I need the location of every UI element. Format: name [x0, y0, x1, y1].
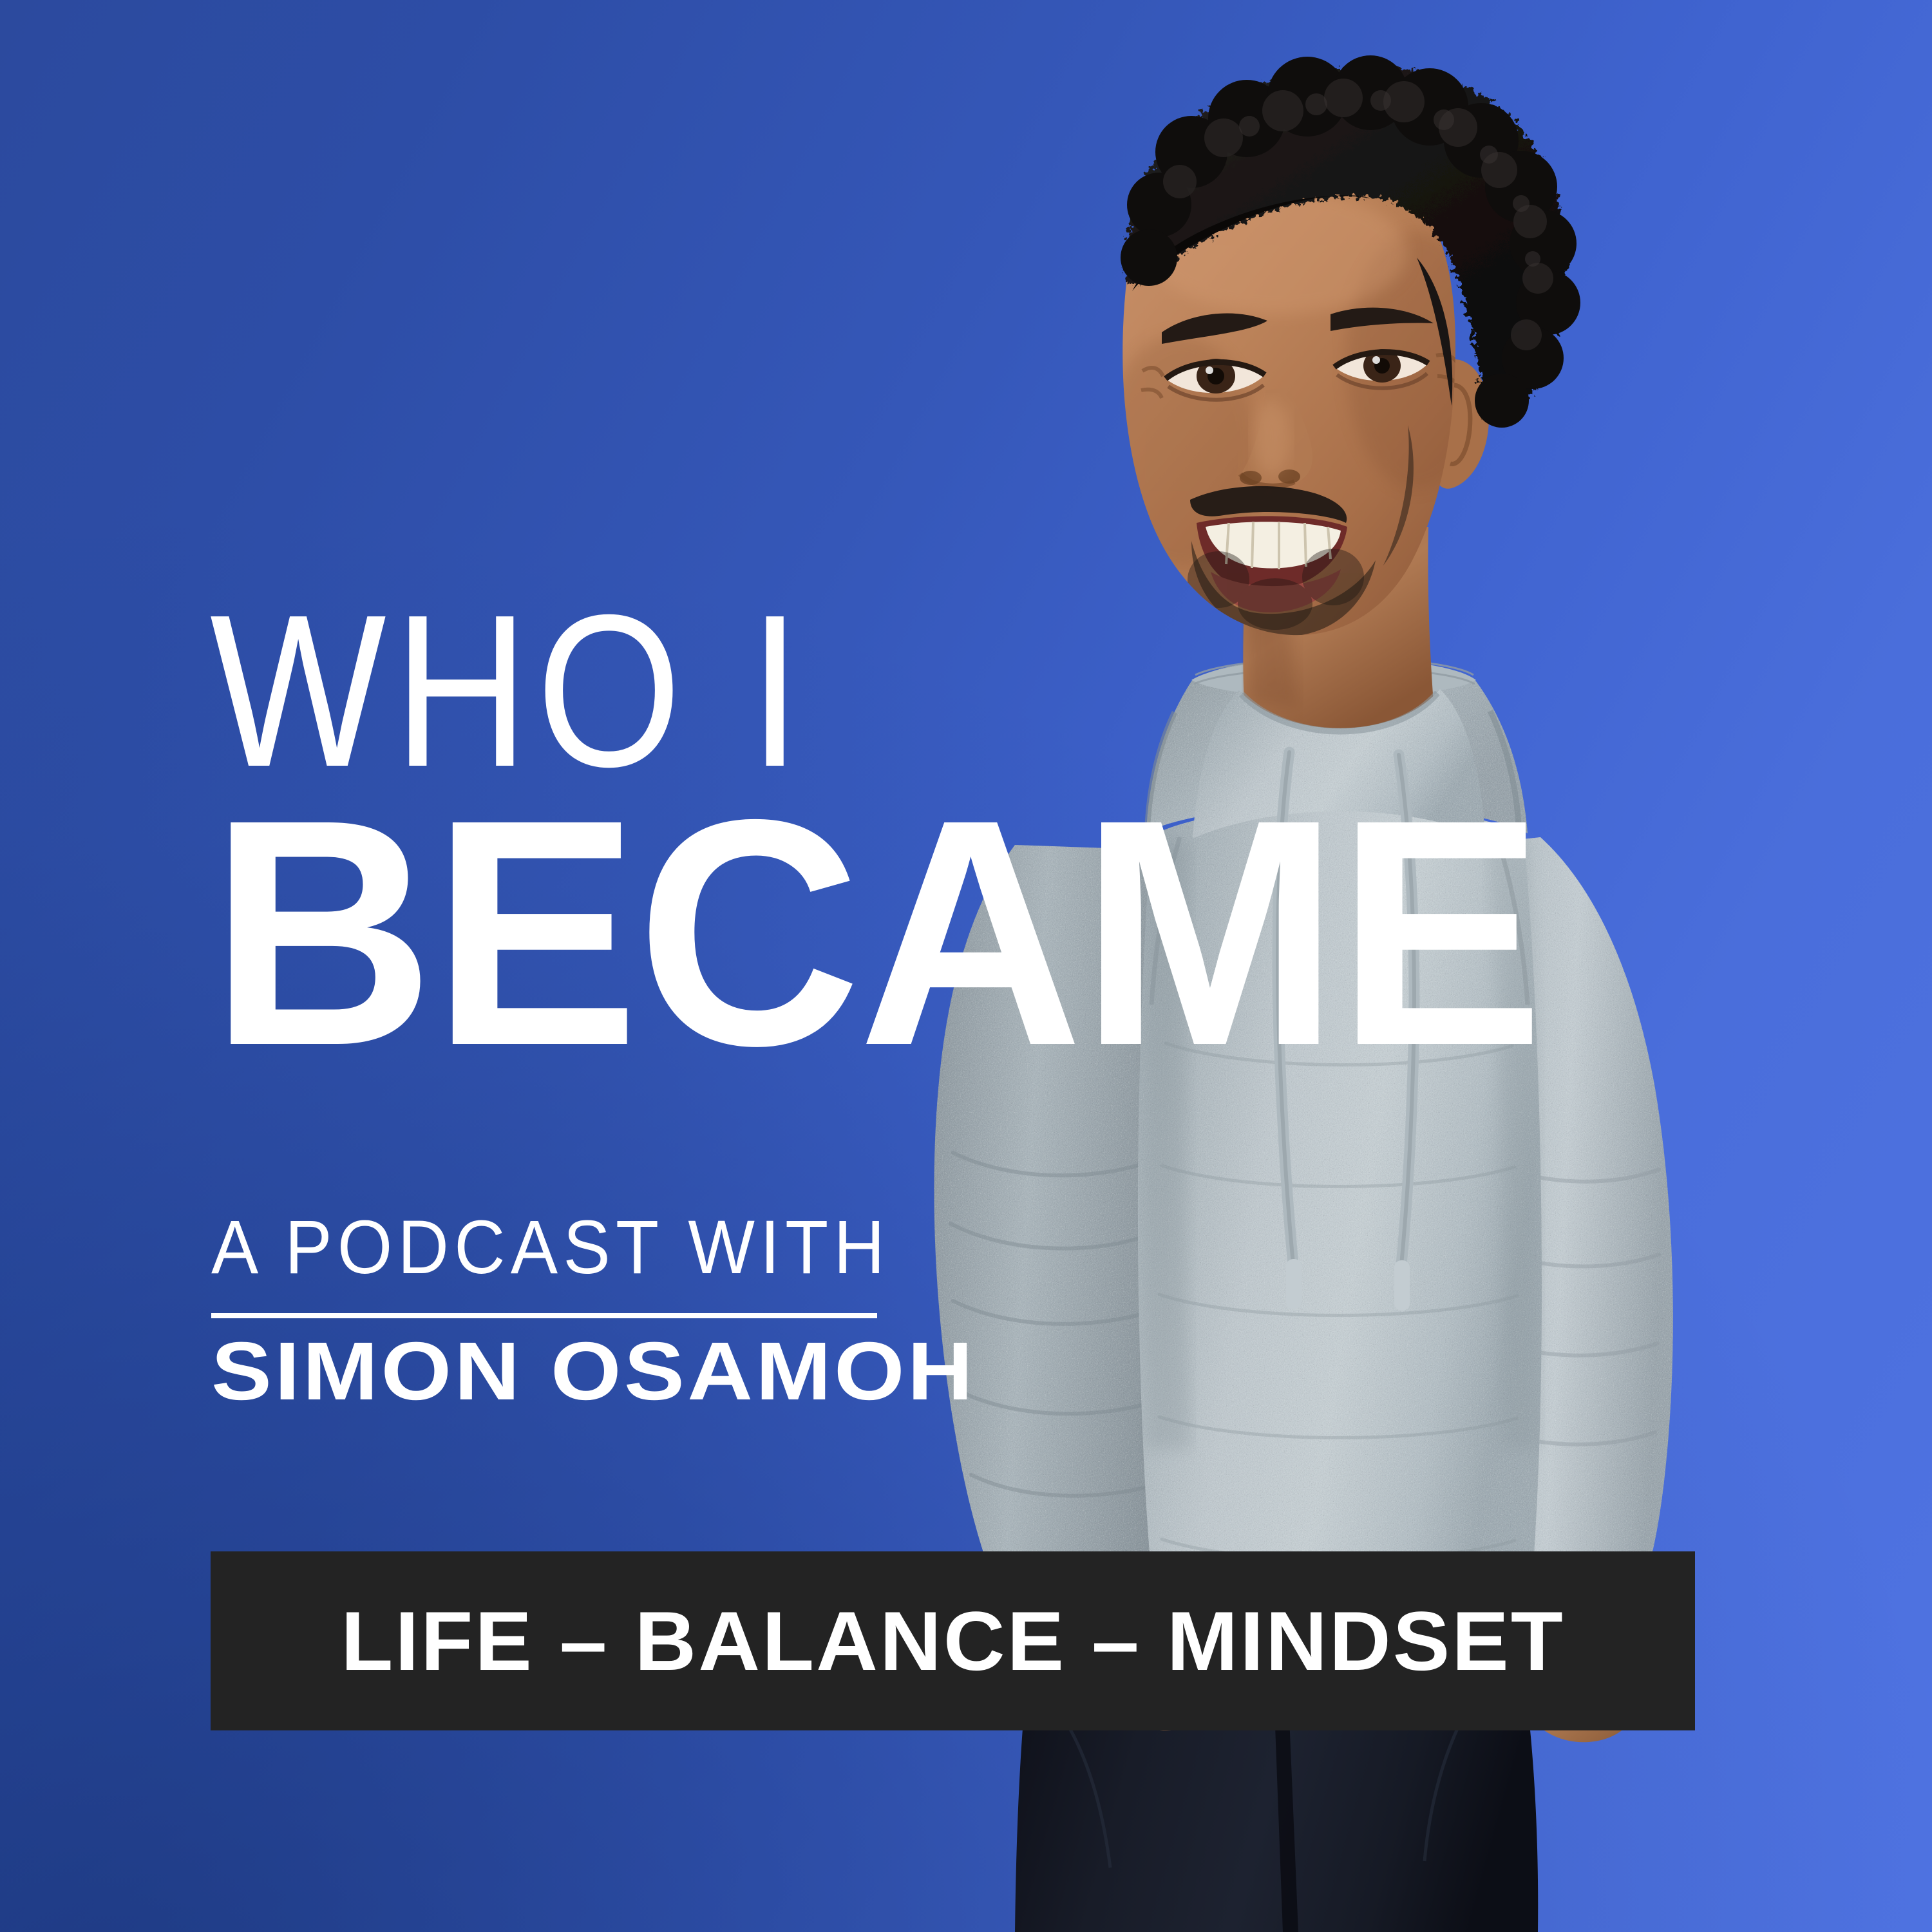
byline-divider-rule: [211, 1313, 877, 1318]
host-name: SIMON OSAMOH: [211, 1331, 976, 1413]
tagline-text: LIFE – BALANCE – MINDSET: [341, 1599, 1565, 1683]
byline-prefix: A PODCAST WITH: [211, 1209, 890, 1285]
tagline-bar: LIFE – BALANCE – MINDSET: [211, 1551, 1695, 1730]
title-line-2: BECAME: [210, 772, 1542, 1094]
podcast-cover-art: WHO I BECAME A PODCAST WITH SIMON OSAMOH…: [0, 0, 1932, 1932]
